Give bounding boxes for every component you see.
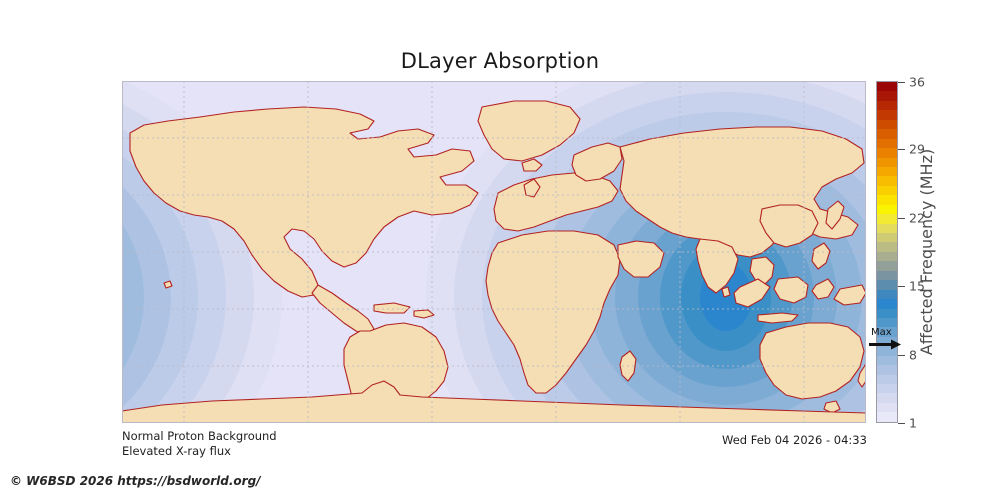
colorbar-band bbox=[877, 280, 897, 289]
colorbar-band bbox=[877, 158, 897, 167]
colorbar-band bbox=[877, 214, 897, 223]
map-svg bbox=[122, 81, 866, 423]
timestamp-label: Wed Feb 04 2026 - 04:33 bbox=[722, 433, 867, 447]
land-sri-lanka bbox=[722, 287, 730, 297]
colorbar-band bbox=[877, 224, 897, 233]
colorbar-band bbox=[877, 139, 897, 148]
land-hawaii bbox=[164, 281, 172, 288]
colorbar-band bbox=[877, 309, 897, 318]
colorbar-tick bbox=[898, 355, 905, 356]
status-annotations: Normal Proton Background Elevated X-ray … bbox=[122, 429, 522, 459]
colorbar-band bbox=[877, 299, 897, 308]
colorbar-max-marker: Max bbox=[869, 327, 909, 353]
page-title: DLayer Absorption bbox=[0, 49, 1000, 73]
colorbar-tick bbox=[898, 218, 905, 219]
colorbar-band bbox=[877, 205, 897, 214]
colorbar-band bbox=[877, 120, 897, 129]
colorbar-band bbox=[877, 91, 897, 100]
colorbar-band bbox=[877, 195, 897, 204]
colorbar-tick bbox=[898, 286, 905, 287]
colorbar-band bbox=[877, 110, 897, 119]
colorbar-tick bbox=[898, 423, 905, 424]
colorbar-band bbox=[877, 375, 897, 384]
xray-status-text: Elevated X-ray flux bbox=[122, 444, 522, 459]
colorbar-band bbox=[877, 186, 897, 195]
colorbar-axis-label: Affected Frequency (MHz) bbox=[911, 81, 941, 423]
arrow-right-icon bbox=[869, 339, 901, 350]
colorbar-band bbox=[877, 242, 897, 251]
colorbar-band bbox=[877, 261, 897, 270]
colorbar-band bbox=[877, 290, 897, 299]
colorbar-tick bbox=[898, 149, 905, 150]
colorbar-band bbox=[877, 101, 897, 110]
colorbar-band bbox=[877, 403, 897, 412]
colorbar-gradient bbox=[876, 81, 898, 423]
colorbar-band bbox=[877, 356, 897, 365]
colorbar-band bbox=[877, 176, 897, 185]
land-java bbox=[758, 313, 798, 323]
colorbar[interactable] bbox=[876, 81, 898, 423]
proton-status-text: Normal Proton Background bbox=[122, 429, 522, 444]
chart-page: DLayer Absorption bbox=[0, 0, 1000, 500]
colorbar-band bbox=[877, 82, 897, 91]
max-marker-label: Max bbox=[871, 327, 892, 338]
colorbar-band bbox=[877, 148, 897, 157]
colorbar-band bbox=[877, 384, 897, 393]
colorbar-band bbox=[877, 252, 897, 261]
colorbar-band bbox=[877, 271, 897, 280]
colorbar-band bbox=[877, 129, 897, 138]
footer-credit: © W6BSD 2026 https://bsdworld.org/ bbox=[10, 474, 261, 488]
colorbar-band bbox=[877, 365, 897, 374]
colorbar-band bbox=[877, 412, 897, 421]
colorbar-band bbox=[877, 233, 897, 242]
colorbar-tick bbox=[898, 82, 905, 83]
world-map-plot[interactable] bbox=[122, 81, 866, 423]
colorbar-band bbox=[877, 167, 897, 176]
colorbar-band bbox=[877, 393, 897, 402]
